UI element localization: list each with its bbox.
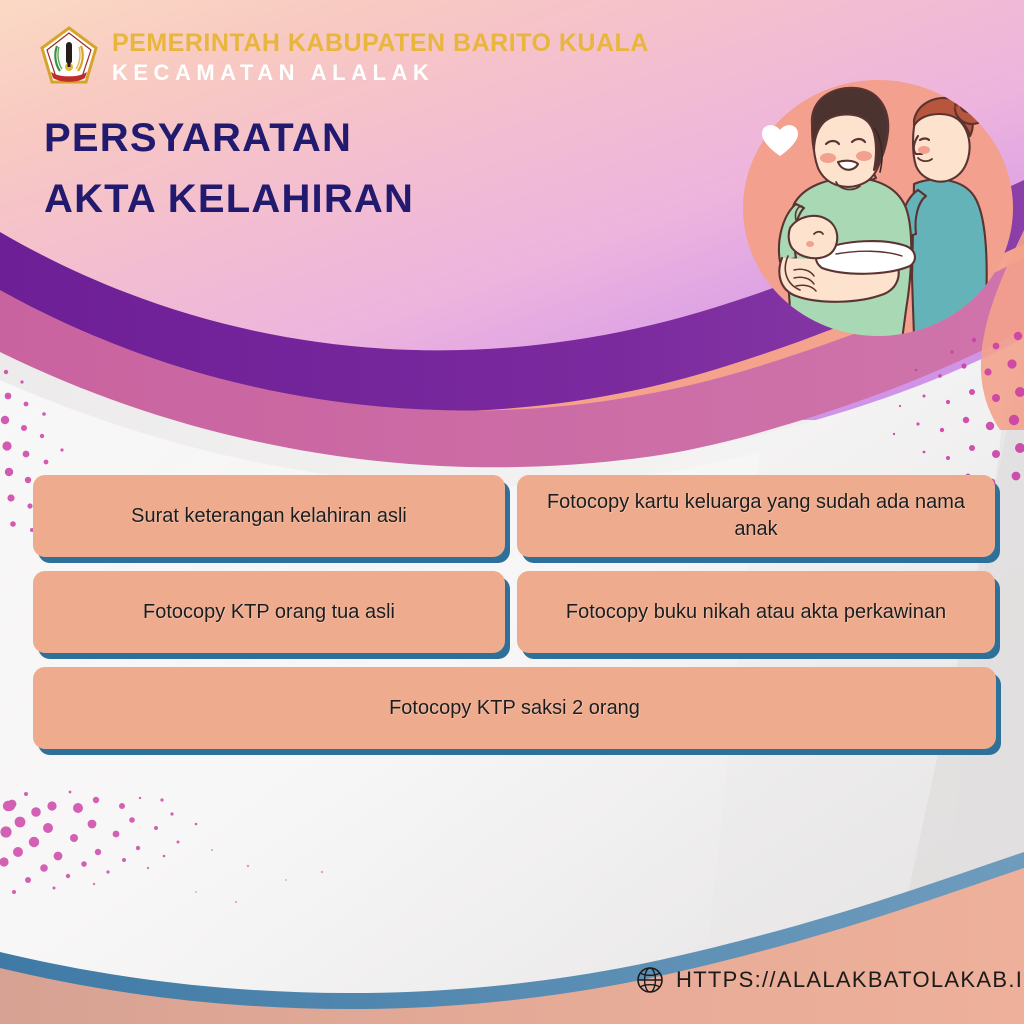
requirement-box[interactable]: Fotocopy KTP saksi 2 orang: [33, 667, 996, 749]
illustration-mother-and-baby: [718, 78, 1018, 344]
requirement-box[interactable]: Fotocopy kartu keluarga yang sudah ada n…: [517, 475, 995, 557]
requirement-box[interactable]: Fotocopy KTP orang tua asli: [33, 571, 505, 653]
requirements-row-1: Surat keterangan kelahiran asli Fotocopy…: [33, 475, 1001, 557]
government-title: PEMERINTAH KABUPATEN BARITO KUALA: [112, 30, 649, 57]
page-title-line2: AKTA KELAHIRAN: [44, 169, 414, 230]
requirement-box[interactable]: Fotocopy buku nikah atau akta perkawinan: [517, 571, 995, 653]
globe-icon: [636, 966, 664, 994]
kabupaten-barito-kuala-emblem-icon: [40, 26, 98, 88]
district-title: KECAMATAN ALALAK: [112, 61, 649, 84]
footer-url-text: HTTPS://ALALAKBATOLAKAB.ID/: [676, 967, 1024, 993]
poster-canvas: PEMERINTAH KABUPATEN BARITO KUALA KECAMA…: [0, 0, 1024, 1024]
footer-website-link[interactable]: HTTPS://ALALAKBATOLAKAB.ID/: [636, 966, 1024, 994]
requirements-row-3: Fotocopy KTP saksi 2 orang: [33, 667, 1001, 749]
requirement-box[interactable]: Surat keterangan kelahiran asli: [33, 475, 505, 557]
requirements-row-2: Fotocopy KTP orang tua asli Fotocopy buk…: [33, 571, 1001, 653]
page-title-line1: PERSYARATAN: [44, 108, 414, 169]
requirements-list: Surat keterangan kelahiran asli Fotocopy…: [33, 475, 1001, 763]
header: PEMERINTAH KABUPATEN BARITO KUALA KECAMA…: [40, 26, 649, 88]
page-title: PERSYARATAN AKTA KELAHIRAN: [44, 108, 414, 230]
